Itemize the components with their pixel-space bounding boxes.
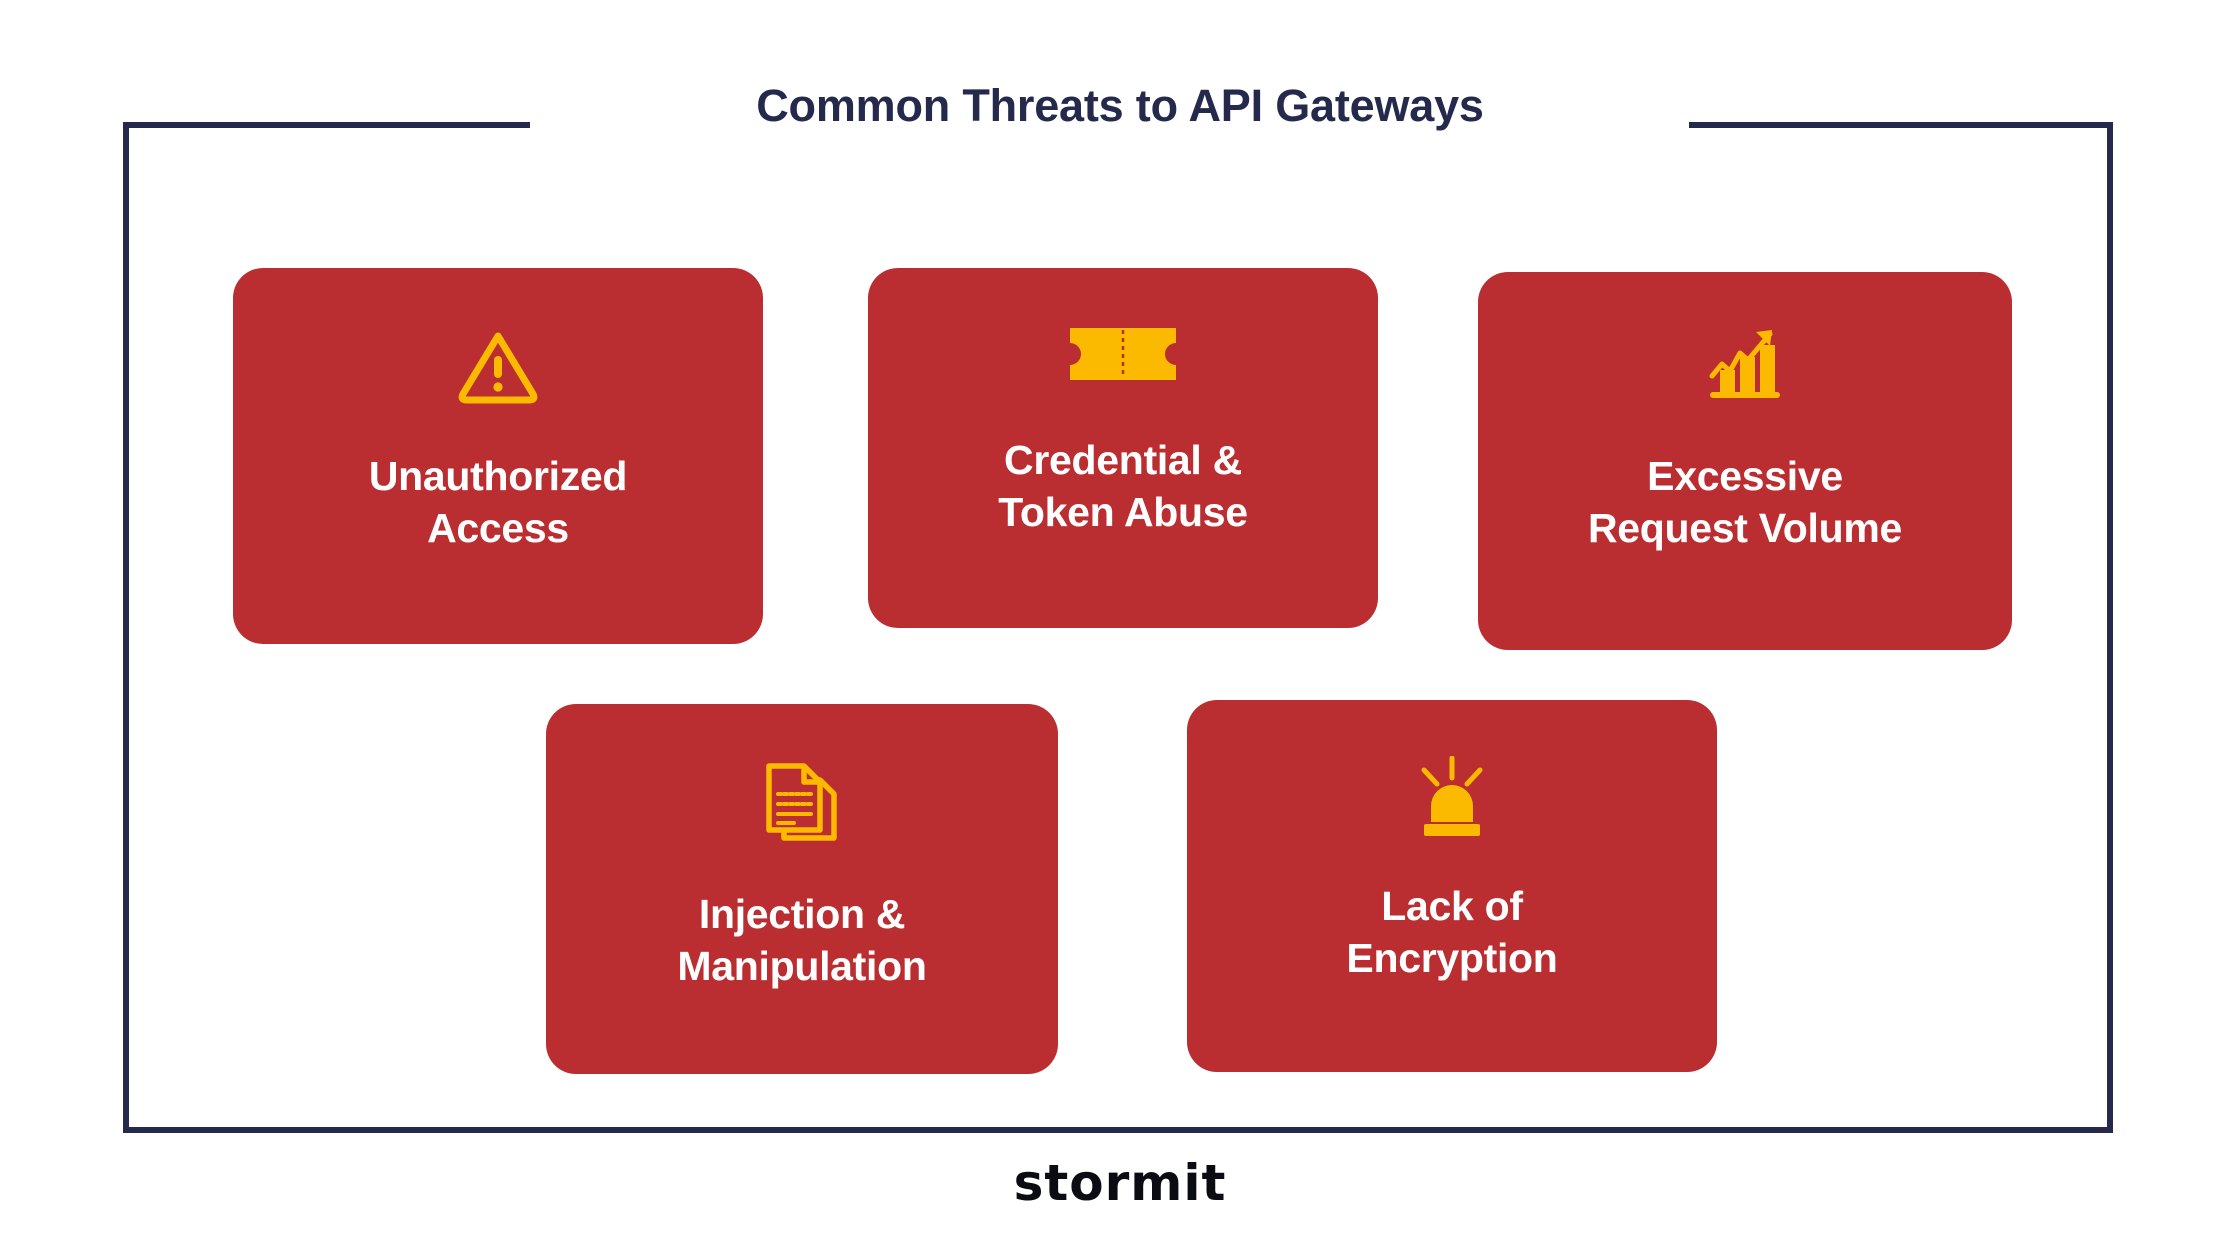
threat-card-unauthorized-access[interactable]: Unauthorized Access bbox=[233, 268, 763, 644]
threat-card-credential-token-abuse[interactable]: Credential & Token Abuse bbox=[868, 268, 1378, 628]
threat-card-label-line1: Unauthorized bbox=[369, 450, 627, 502]
threat-card-label: Injection & Manipulation bbox=[659, 888, 944, 993]
threat-card-label: Unauthorized Access bbox=[351, 450, 645, 555]
threat-card-excessive-request-volume[interactable]: Excessive Request Volume bbox=[1478, 272, 2012, 650]
threat-card-label: Excessive Request Volume bbox=[1570, 450, 1920, 555]
threat-card-label-line1: Excessive bbox=[1588, 450, 1902, 502]
threat-card-label-line2: Token Abuse bbox=[998, 486, 1248, 538]
alarm-siren-icon bbox=[1413, 756, 1491, 836]
threat-card-label-line2: Encryption bbox=[1346, 932, 1557, 984]
threat-card-label-line2: Request Volume bbox=[1588, 502, 1902, 554]
threat-card-label: Lack of Encryption bbox=[1328, 880, 1575, 985]
page-title: Common Threats to API Gateways bbox=[0, 83, 2240, 128]
rising-bar-chart-icon bbox=[1706, 324, 1784, 402]
ticket-token-icon bbox=[1068, 326, 1178, 382]
threat-card-injection-manipulation[interactable]: Injection & Manipulation bbox=[546, 704, 1058, 1074]
threat-card-label: Credential & Token Abuse bbox=[980, 434, 1266, 539]
threat-card-label-line1: Injection & bbox=[677, 888, 926, 940]
frame-right-edge bbox=[2107, 122, 2113, 1133]
frame-left-edge bbox=[123, 122, 129, 1133]
threat-card-label-line1: Lack of bbox=[1346, 880, 1557, 932]
threat-card-label-line2: Manipulation bbox=[677, 940, 926, 992]
stormit-logo: stormit bbox=[0, 1154, 2240, 1212]
threat-card-lack-of-encryption[interactable]: Lack of Encryption bbox=[1187, 700, 1717, 1072]
documents-icon bbox=[764, 762, 840, 844]
threat-card-label-line2: Access bbox=[369, 502, 627, 554]
threat-card-label-line1: Credential & bbox=[998, 434, 1248, 486]
frame-bottom-edge bbox=[123, 1127, 2113, 1133]
warning-triangle-icon bbox=[458, 330, 538, 404]
